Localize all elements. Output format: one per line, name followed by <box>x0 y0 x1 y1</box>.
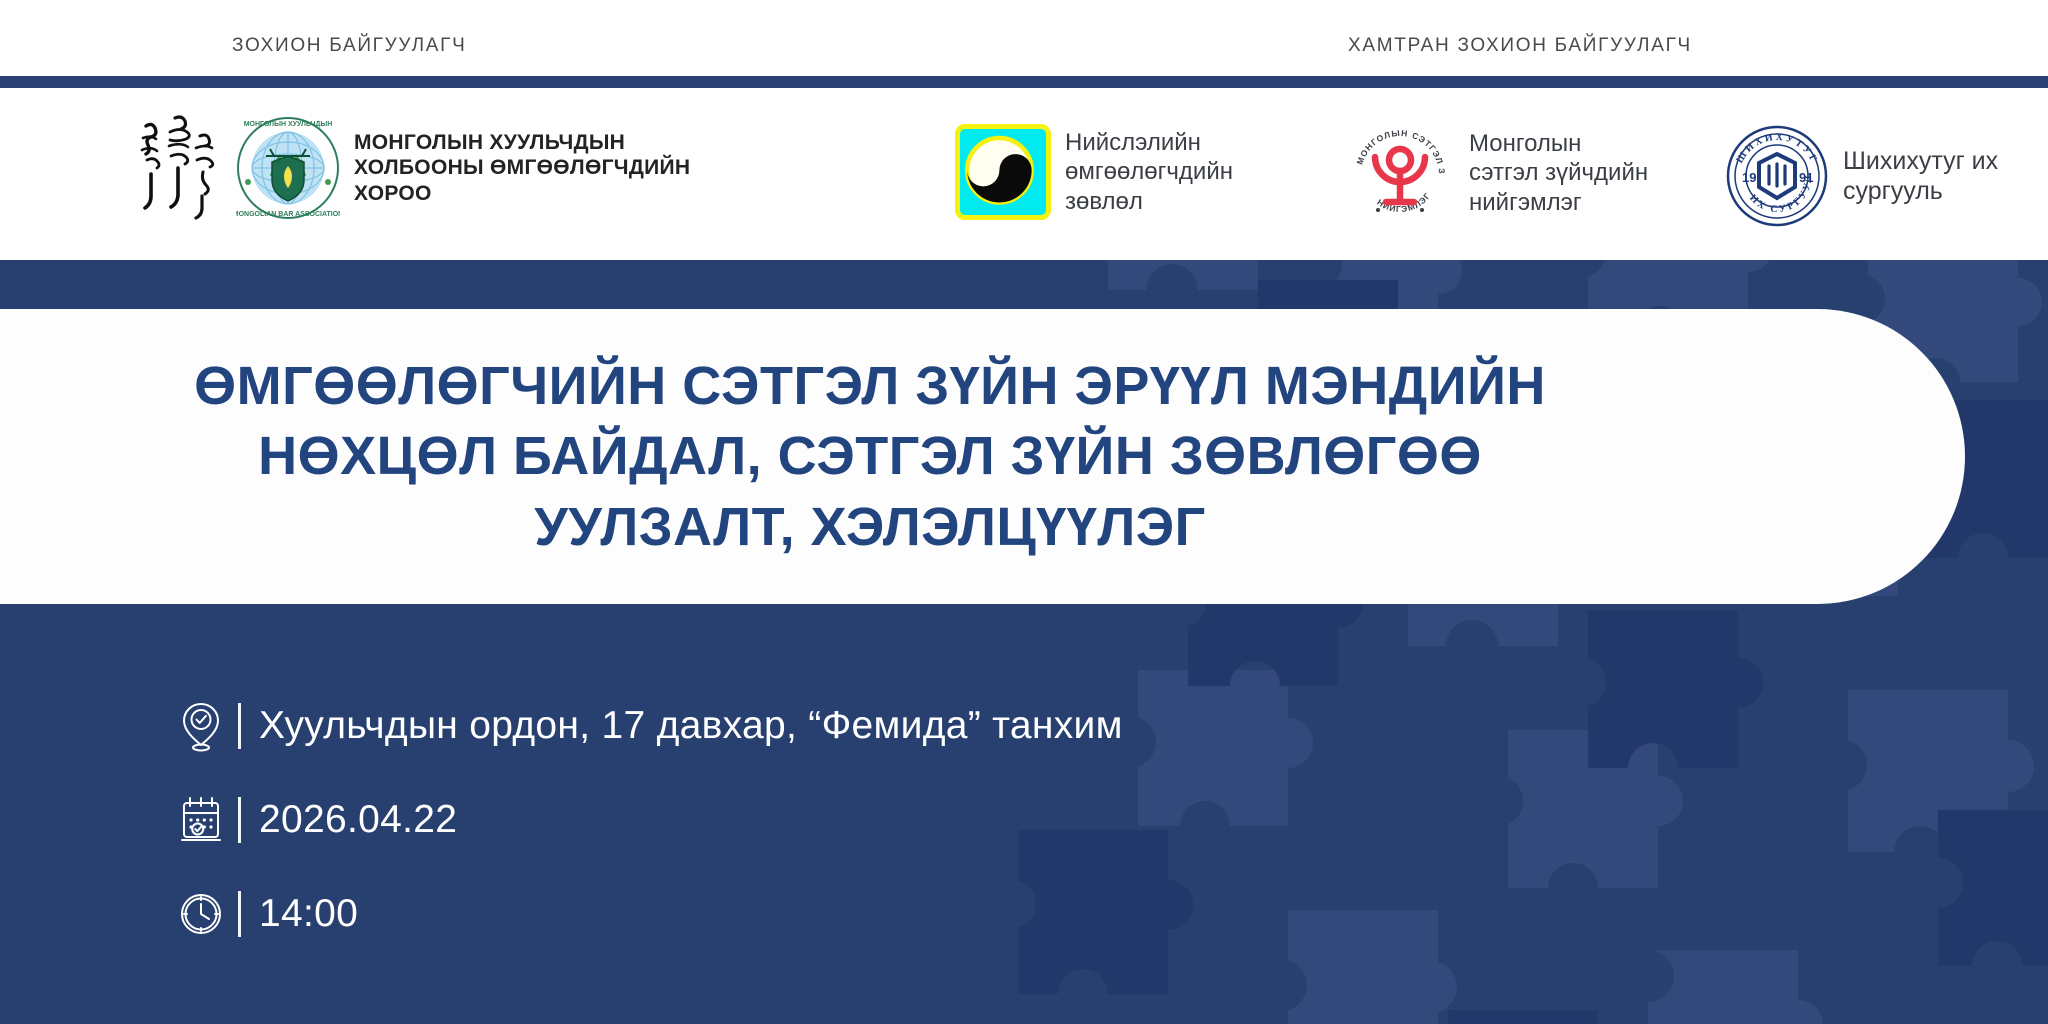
detail-separator <box>238 797 241 843</box>
svg-text:19: 19 <box>1742 170 1756 185</box>
mongolian-script-calligraphy-icon <box>130 110 222 226</box>
mba-globe-seal-icon: МОНГОЛЫН ХУУЛЬЧДЫН MONGOLIAN BAR ASSOCIA… <box>236 116 340 220</box>
coorganizer-label: ХАМТРАН ЗОХИОН БАЙГУУЛАГЧ <box>1348 35 1692 57</box>
organizer-label: ЗОХИОН БАЙГУУЛАГЧ <box>232 35 466 57</box>
event-title: ӨМГӨӨЛӨГЧИЙН СЭТГЭЛ ЗҮЙН ЭРҮҮЛ МЭНДИЙН Н… <box>0 309 1740 604</box>
logo-label-capital-city-lawyers-council: Нийслэлийн өмгөөлөгчдийн зөвлөл <box>1065 128 1233 216</box>
svg-text:MONGOLIAN BAR ASSOCIATION: MONGOLIAN BAR ASSOCIATION <box>236 211 340 218</box>
detail-separator <box>238 891 241 937</box>
yin-yang-icon <box>955 124 1051 220</box>
organizer-strip: ЗОХИОН БАЙГУУЛАГЧ ХАМТРАН ЗОХИОН БАЙГУУЛ… <box>0 0 2048 76</box>
location-pin-check-icon <box>178 700 224 752</box>
logo-label-mongolian-psychologists-society: Монголын сэтгэл зүйчдийн нийгэмлэг <box>1469 129 1648 217</box>
title-line-3: УУЛЗАЛТ, ХЭЛЭЛЦҮҮЛЭГ <box>534 492 1206 562</box>
logo-mongolian-bar-association: МОНГОЛЫН ХУУЛЬЧДЫН MONGOLIAN BAR ASSOCIA… <box>130 110 690 226</box>
detail-row-location: Хуульчдын ордон, 17 давхар, “Фемида” тан… <box>178 700 1478 752</box>
logo-label-shihihutug-university: Шихихутуг их сургууль <box>1843 146 1998 207</box>
university-crest-seal-icon: ШИХИХУТУГ ИХ СУРГУУЛЬ 19 91 <box>1725 124 1829 228</box>
event-poster: ЗОХИОН БАЙГУУЛАГЧ ХАМТРАН ЗОХИОН БАЙГУУЛ… <box>0 0 2048 1024</box>
logo-label-mongolian-bar-association: МОНГОЛЫН ХУУЛЬЧДЫН ХОЛБООНЫ ӨМГӨӨЛӨГЧДИЙ… <box>354 130 690 207</box>
detail-time-value: 14:00 <box>259 892 358 936</box>
detail-location-value: Хуульчдын ордон, 17 давхар, “Фемида” тан… <box>259 704 1123 748</box>
title-card: ӨМГӨӨЛӨГЧИЙН СЭТГЭЛ ЗҮЙН ЭРҮҮЛ МЭНДИЙН Н… <box>0 309 1965 604</box>
logo-mongolian-psychologists-society: МОНГОЛЫН СЭТГЭЛ ЗҮЙЧДИЙН НИЙГЭМЛЭГ Монго… <box>1345 118 1648 228</box>
clock-icon <box>178 888 224 940</box>
svg-text:91: 91 <box>1799 170 1813 185</box>
detail-row-time: 14:00 <box>178 888 1478 940</box>
title-line-1: ӨМГӨӨЛӨГЧИЙН СЭТГЭЛ ЗҮЙН ЭРҮҮЛ МЭНДИЙН <box>194 351 1546 421</box>
detail-row-date: 2026.04.22 <box>178 794 1478 846</box>
logo-band: МОНГОЛЫН ХУУЛЬЧДЫН MONGOLIAN BAR ASSOCIA… <box>0 88 2048 260</box>
header-divider <box>0 76 2048 88</box>
event-details: Хуульчдын ордон, 17 давхар, “Фемида” тан… <box>178 700 1478 982</box>
logo-shihihutug-university: ШИХИХУТУГ ИХ СУРГУУЛЬ 19 91 Шихихутуг их… <box>1725 124 1998 228</box>
svg-text:МОНГОЛЫН ХУУЛЬЧДЫН: МОНГОЛЫН ХУУЛЬЧДЫН <box>244 121 333 128</box>
logo-capital-city-lawyers-council: Нийслэлийн өмгөөлөгчдийн зөвлөл <box>955 124 1233 220</box>
detail-separator <box>238 703 241 749</box>
title-line-2: НӨХЦӨЛ БАЙДАЛ, СЭТГЭЛ ЗҮЙН ЗӨВЛӨГӨӨ <box>258 421 1482 491</box>
psi-symbol-seal-icon: МОНГОЛЫН СЭТГЭЛ ЗҮЙЧДИЙН НИЙГЭМЛЭГ <box>1345 118 1455 228</box>
detail-date-value: 2026.04.22 <box>259 798 457 842</box>
calendar-check-icon <box>178 794 224 846</box>
